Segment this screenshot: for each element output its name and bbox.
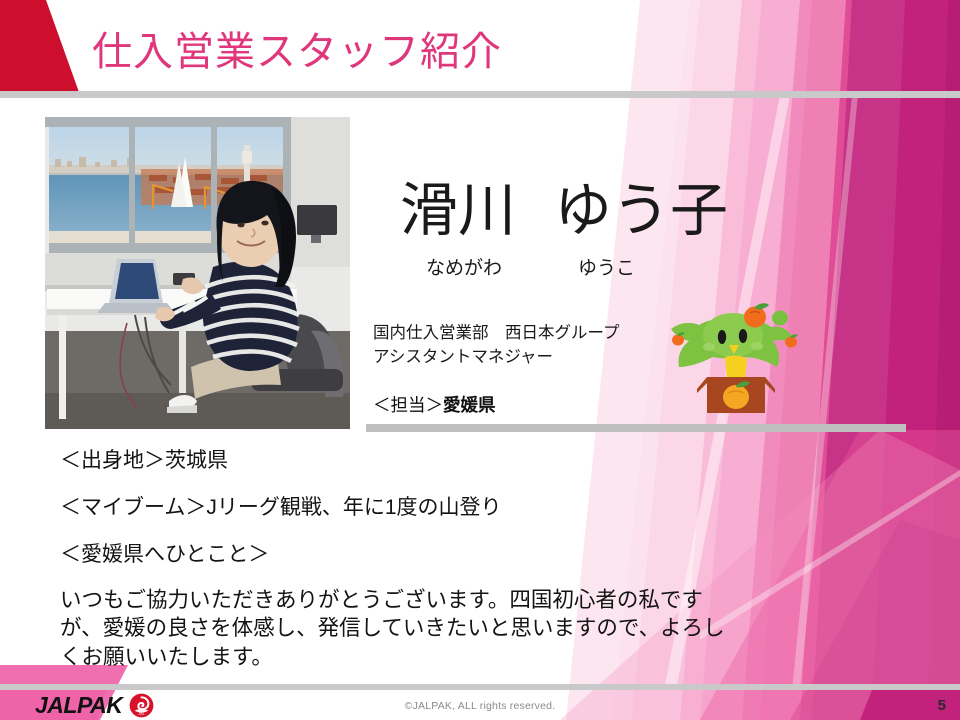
- charge-label: ＜担当＞: [373, 395, 443, 415]
- given-name-furigana: ゆうこ: [578, 258, 635, 281]
- profile-message: いつもご協力いただきありがとうございます。四国初心者の私です が、愛媛の良さを体…: [60, 586, 820, 671]
- copyright-text: ©JALPAK, ALL rights reserved.: [0, 700, 960, 712]
- divider-middle: [366, 424, 906, 432]
- profile-hometown: ＜出身地＞茨城県: [60, 450, 850, 471]
- staff-photo: [45, 117, 350, 429]
- slide: 仕入営業スタッフ紹介: [0, 0, 960, 720]
- profile-list: ＜出身地＞茨城県 ＜マイブーム＞Jリーグ観戦、年に1度の山登り ＜愛媛県へひとこ…: [60, 450, 850, 591]
- message-line-3: くお願いいたします。: [60, 643, 820, 671]
- person-furigana: なめがわ ゆうこ: [400, 258, 800, 281]
- divider-top: [0, 91, 960, 98]
- person-given-name: ゆう子: [554, 182, 728, 240]
- divider-bottom: [0, 684, 960, 690]
- profile-message-heading: ＜愛媛県へひとこと＞: [60, 544, 850, 565]
- page-title: 仕入営業スタッフ紹介: [92, 32, 502, 72]
- surname-furigana: なめがわ: [426, 258, 502, 281]
- staff-photo-illustration: [45, 117, 350, 429]
- person-name: 滑川 ゆう子: [400, 182, 790, 240]
- message-line-2: が、愛媛の良さを体感し、発信していきたいと思いますので、よろし: [60, 614, 820, 642]
- page-number: 5: [938, 697, 946, 714]
- message-line-1: いつもご協力いただきありがとうございます。四国初心者の私です: [60, 586, 820, 614]
- charge-value: 愛媛県: [443, 395, 496, 415]
- department-text: 国内仕入営業部 西日本グループ アシスタントマネジャー: [373, 322, 620, 370]
- charge-area: ＜担当＞愛媛県: [373, 392, 496, 417]
- profile-myboom: ＜マイブーム＞Jリーグ観戦、年に1度の山登り: [60, 497, 850, 518]
- mikyan-mascot-illustration: [667, 297, 803, 417]
- mikyan-mascot: [667, 297, 803, 417]
- person-surname: 滑川: [400, 182, 516, 240]
